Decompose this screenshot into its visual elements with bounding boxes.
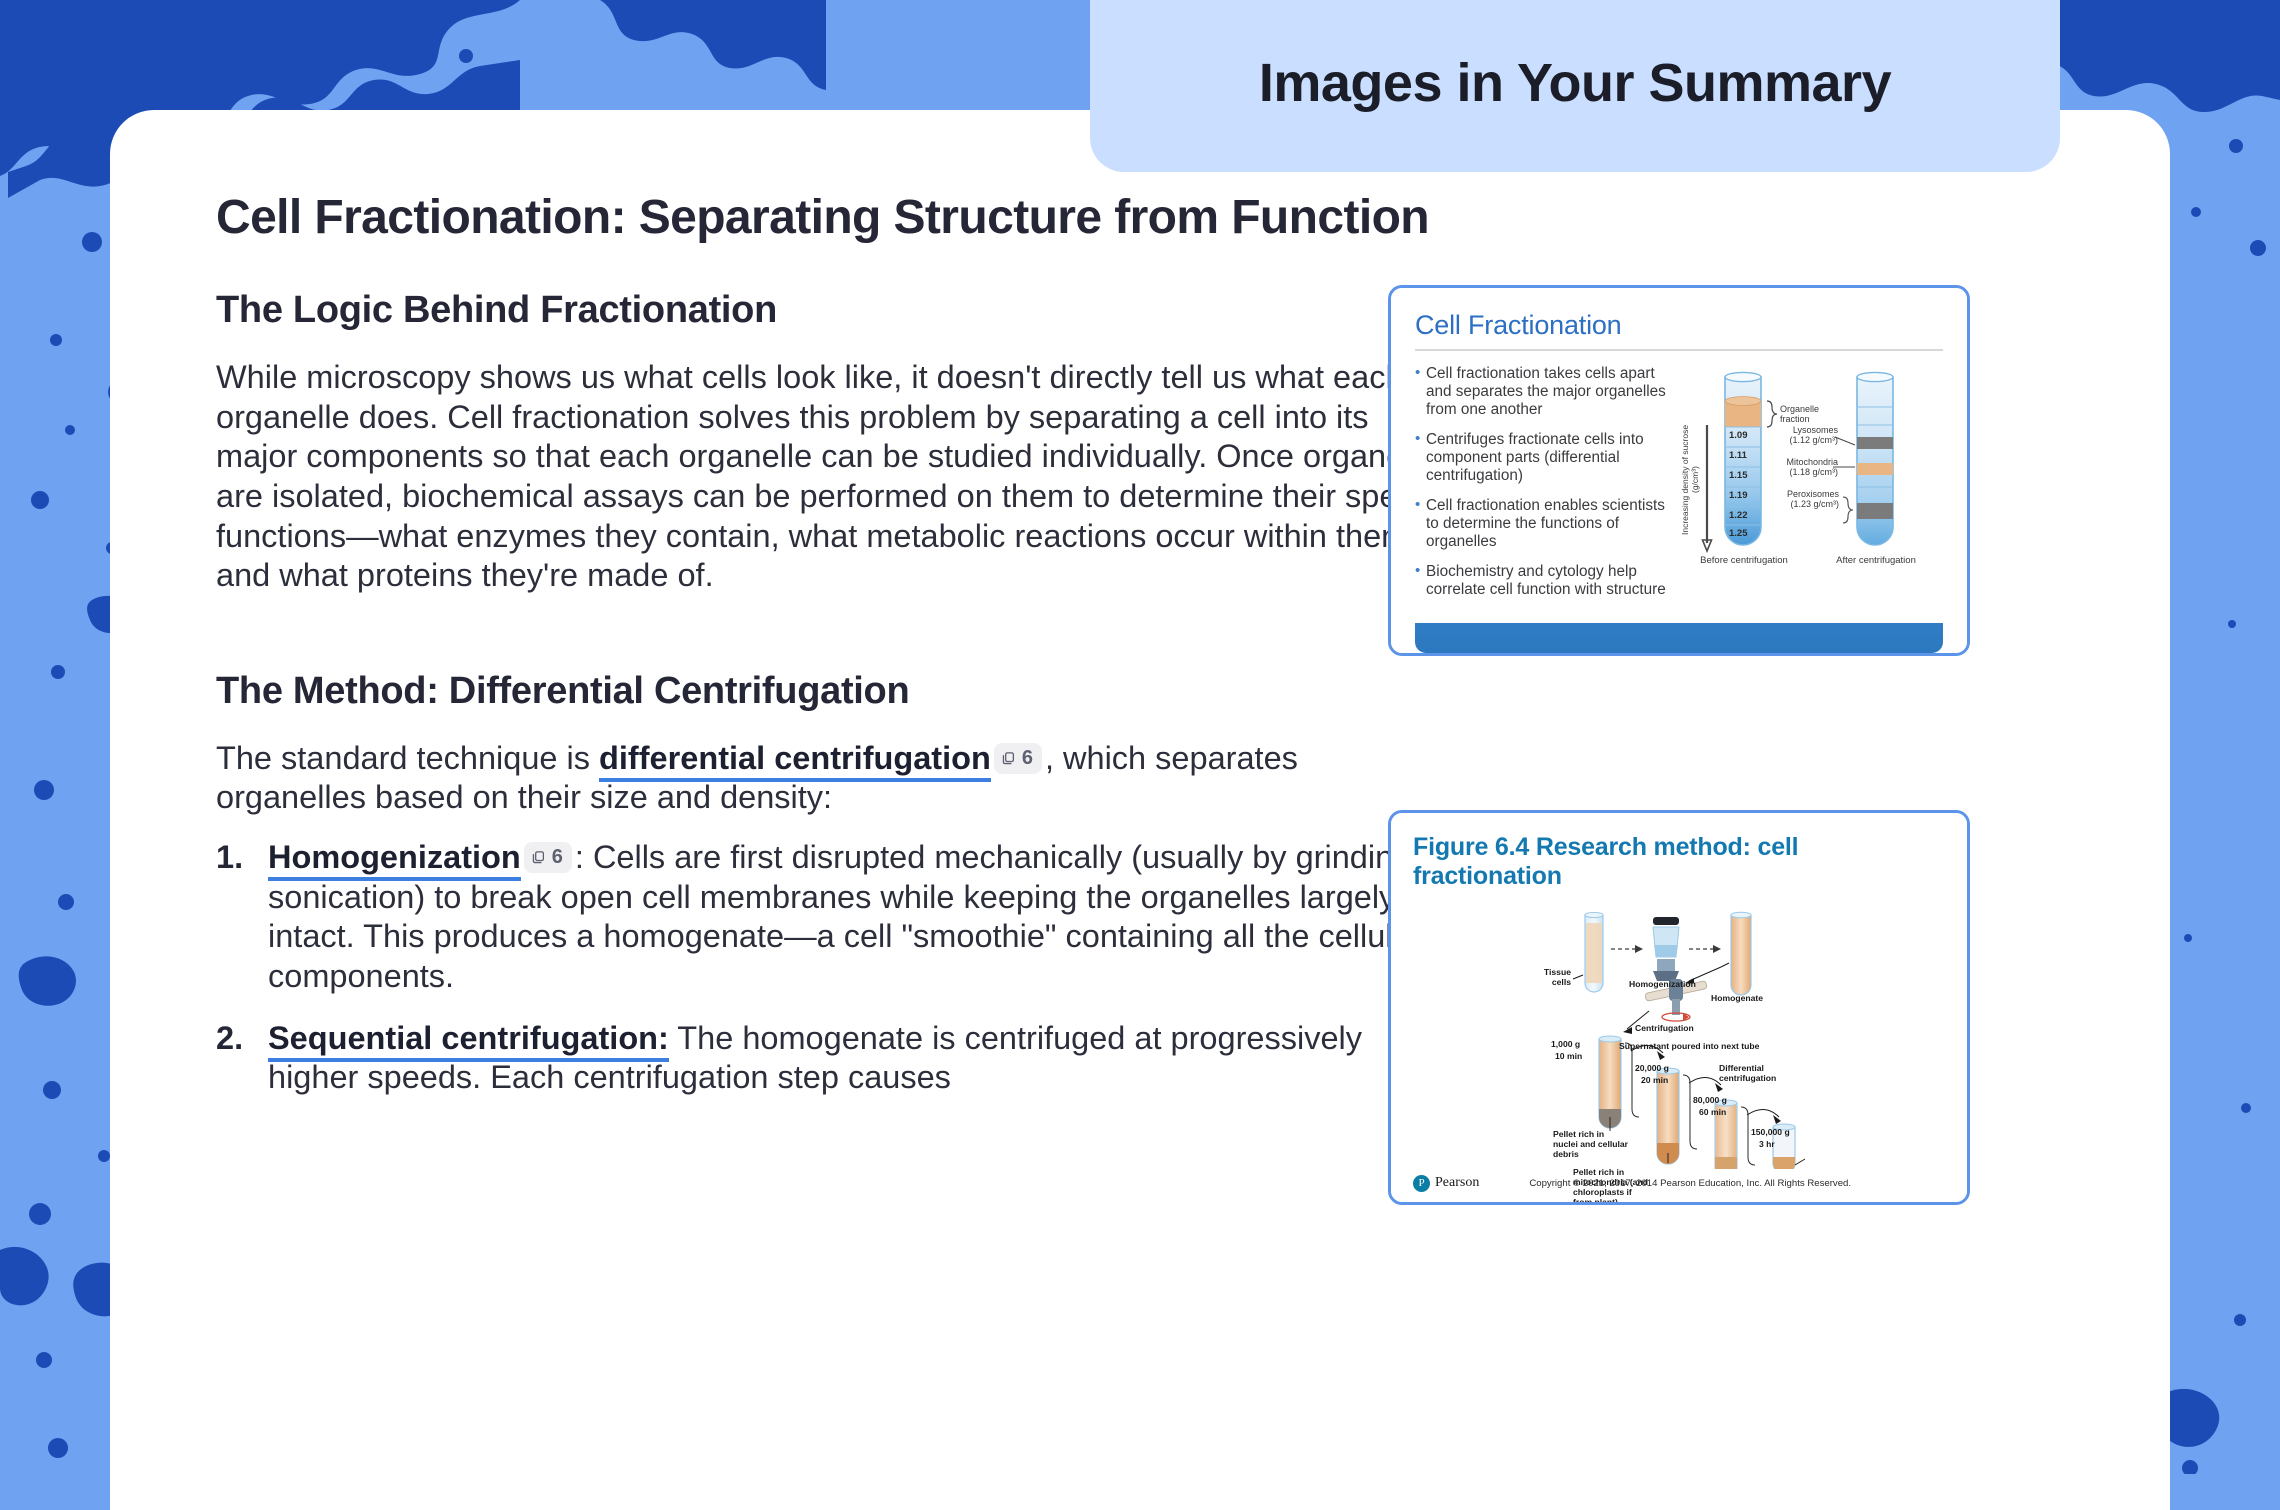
body-column: The Logic Behind Fractionation While mic…	[216, 289, 1456, 1098]
label-tissue-cells: Tissue cells	[1531, 967, 1571, 987]
link-homogenization[interactable]: Homogenization	[268, 839, 521, 881]
image-card-figure-6-4[interactable]: Figure 6.4 Research method: cell fractio…	[1388, 810, 1970, 1205]
slide-footer: P Pearson Copyright © 2021, 2017, 2014 P…	[1413, 1175, 1945, 1192]
label-speed-2: 20,000 g	[1635, 1063, 1669, 1073]
slide-figure-6-4: Figure 6.4 Research method: cell fractio…	[1391, 813, 1967, 1202]
citation-count: 6	[1022, 746, 1033, 770]
label-speed-1: 1,000 g	[1551, 1039, 1580, 1049]
page-title: Cell Fractionation: Separating Structure…	[216, 190, 2090, 245]
label-time-4: 3 hr	[1759, 1139, 1775, 1149]
differential-centrifugation-svg	[1413, 901, 1947, 1169]
slide-bullet: Cell fractionation enables scientists to…	[1415, 497, 1677, 551]
slide-cell-fractionation: Cell Fractionation Cell fractionation ta…	[1391, 288, 1967, 653]
slide-body: Cell fractionation takes cells apart and…	[1415, 363, 1943, 612]
label-time-1: 10 min	[1555, 1051, 1582, 1061]
header-tab: Images in Your Summary	[1090, 0, 2060, 172]
label-supernatant: Supernatant poured into next tube	[1619, 1041, 1759, 1051]
density-value: 1.19	[1729, 490, 1748, 501]
label-differential-centrifugation: Differential centrifugation	[1719, 1063, 1789, 1083]
paragraph-method-intro: The standard technique is differential c…	[216, 739, 1456, 818]
pearson-wordmark: Pearson	[1435, 1175, 1479, 1191]
label-homogenization: Homogenization	[1629, 979, 1696, 989]
section-heading-method: The Method: Differential Centrifugation	[216, 670, 1456, 713]
section-heading-logic: The Logic Behind Fractionation	[216, 289, 1456, 332]
header-tab-title: Images in Your Summary	[1259, 52, 1891, 120]
citation-badge-differential[interactable]: 6	[994, 743, 1042, 773]
slide-title-rule	[1415, 349, 1943, 351]
density-value: 1.11	[1729, 450, 1747, 461]
image-card-cell-fractionation[interactable]: Cell Fractionation Cell fractionation ta…	[1388, 285, 1970, 656]
density-value: 1.09	[1729, 430, 1748, 441]
pearson-logo: P Pearson	[1413, 1175, 1479, 1192]
density-value: 1.15	[1729, 470, 1748, 481]
caption-after-centrifugation: After centrifugation	[1829, 555, 1923, 566]
label-pellet-2: Pellet rich in mitochondria (and chlorop…	[1573, 1167, 1653, 1205]
slide-bullet: Centrifuges fractionate cells into compo…	[1415, 431, 1677, 485]
paragraph-logic: While microscopy shows us what cells loo…	[216, 358, 1456, 596]
slide-bottom-band	[1415, 623, 1943, 653]
label-homogenate: Homogenate	[1711, 993, 1763, 1003]
label-time-3: 60 min	[1699, 1107, 1726, 1117]
copy-icon	[1001, 751, 1016, 766]
caption-before-centrifugation: Before centrifugation	[1697, 555, 1791, 566]
slide-bullet: Biochemistry and cytology help correlate…	[1415, 563, 1677, 599]
image-cards-column: Cell Fractionation Cell fractionation ta…	[1388, 285, 1970, 1205]
pearson-icon: P	[1413, 1175, 1430, 1192]
list-item: Homogenization6: Cells are first disrupt…	[268, 838, 1456, 997]
link-sequential-centrifugation[interactable]: Sequential centrifugation:	[268, 1020, 669, 1062]
figure-title: Figure 6.4 Research method: cell fractio…	[1413, 833, 1945, 891]
link-differential-centrifugation[interactable]: differential centrifugation	[599, 740, 991, 782]
cell-fractionation-method-diagram: Tissue cells Homogenization Homogenate C…	[1413, 901, 1945, 1169]
copy-icon	[531, 850, 546, 865]
label-pellet-1: Pellet rich in nuclei and cellular debri…	[1553, 1129, 1629, 1159]
label-speed-4: 150,000 g	[1751, 1127, 1790, 1137]
citation-badge-homogenization[interactable]: 6	[524, 842, 572, 872]
label-speed-3: 80,000 g	[1693, 1095, 1727, 1105]
label-time-2: 20 min	[1641, 1075, 1668, 1085]
label-organelle-fraction: Organelle fraction	[1780, 404, 1838, 426]
intro-before-text: The standard technique is	[216, 740, 599, 776]
steps-list: Homogenization6: Cells are first disrupt…	[216, 838, 1456, 1098]
citation-count: 6	[552, 845, 563, 869]
density-value: 1.22	[1729, 510, 1748, 521]
label-peroxisomes: Peroxisomes (1.23 g/cm³)	[1771, 489, 1839, 511]
sucrose-gradient-figure: Increasing density of sucrose (g/cm³) 1.…	[1683, 363, 1943, 595]
density-value: 1.25	[1729, 528, 1748, 539]
axis-label-density: Increasing density of sucrose (g/cm³)	[1681, 419, 1701, 541]
label-centrifugation: Centrifugation	[1635, 1023, 1694, 1033]
slide-bullet-list: Cell fractionation takes cells apart and…	[1415, 363, 1677, 612]
label-lysosomes: Lysosomes (1.12 g/cm³)	[1776, 425, 1838, 447]
slide-title: Cell Fractionation	[1415, 310, 1943, 341]
list-item: Sequential centrifugation: The homogenat…	[268, 1019, 1456, 1098]
slide-bullet: Cell fractionation takes cells apart and…	[1415, 365, 1677, 419]
label-mitochondria: Mitochondria (1.18 g/cm³)	[1766, 457, 1838, 479]
